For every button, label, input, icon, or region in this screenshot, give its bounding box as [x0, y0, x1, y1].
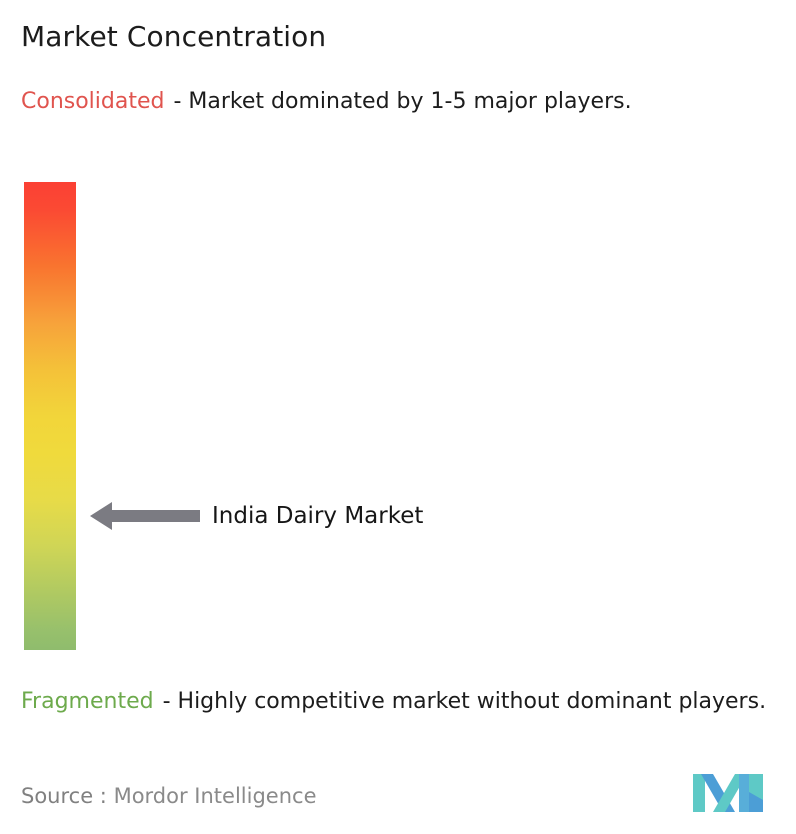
legend-consolidated-description: - Market dominated by 1-5 major players.: [173, 89, 631, 114]
market-pointer-label: India Dairy Market: [212, 501, 423, 531]
source-label: Source :: [21, 784, 107, 808]
legend-consolidated-keyword: Consolidated: [21, 89, 164, 114]
legend-fragmented-keyword: Fragmented: [21, 689, 154, 714]
source-attribution: Source : Mordor Intelligence: [21, 782, 316, 810]
source-value: Mordor Intelligence: [114, 784, 317, 808]
market-pointer: India Dairy Market: [90, 498, 423, 534]
legend-fragmented: Fragmented- Highly competitive market wi…: [21, 686, 789, 717]
market-concentration-infographic: Market Concentration Consolidated- Marke…: [0, 0, 796, 834]
page-title: Market Concentration: [21, 19, 326, 55]
concentration-gradient-bar: [24, 182, 76, 650]
legend-consolidated: Consolidated- Market dominated by 1-5 ma…: [21, 86, 761, 117]
mordor-intelligence-logo: [691, 770, 769, 816]
mordor-intelligence-logo-icon: [691, 770, 769, 816]
left-arrow-icon: [90, 498, 200, 534]
legend-fragmented-description: - Highly competitive market without domi…: [163, 689, 766, 714]
